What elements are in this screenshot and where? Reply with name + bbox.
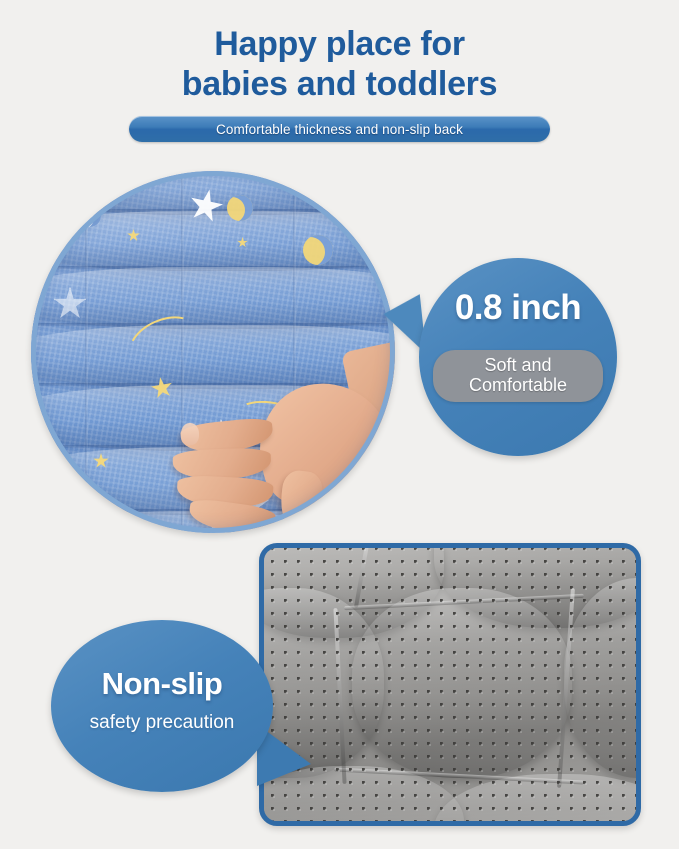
moon-motif <box>79 205 101 227</box>
mattress-top-photo <box>31 171 395 533</box>
headline-line-1: Happy place for <box>0 24 679 64</box>
subtitle-text: Comfortable thickness and non-slip back <box>216 122 463 137</box>
moon-motif <box>303 235 333 265</box>
non-slip-title: Non-slip <box>51 666 273 702</box>
moon-motif <box>227 195 253 221</box>
non-slip-dots <box>259 543 641 826</box>
callout-bubble <box>51 620 273 792</box>
thickness-sub-line-2: Comfortable <box>433 375 603 395</box>
infographic-page: Happy place for babies and toddlers Comf… <box>0 0 679 849</box>
page-title: Happy place for babies and toddlers <box>0 24 679 104</box>
thickness-sub-line-1: Soft and <box>433 355 603 375</box>
thickness-callout: 0.8 inch Soft and Comfortable <box>419 258 617 456</box>
thickness-sub-label: Soft and Comfortable <box>433 350 603 402</box>
non-slip-backing-photo <box>259 543 641 826</box>
headline-line-2: babies and toddlers <box>0 64 679 104</box>
fingernail <box>181 423 199 445</box>
non-slip-sub-label: safety precaution <box>51 712 273 734</box>
thickness-value: 0.8 inch <box>419 288 617 328</box>
non-slip-callout: Non-slip safety precaution <box>51 620 273 792</box>
subtitle-banner: Comfortable thickness and non-slip back <box>129 116 550 142</box>
